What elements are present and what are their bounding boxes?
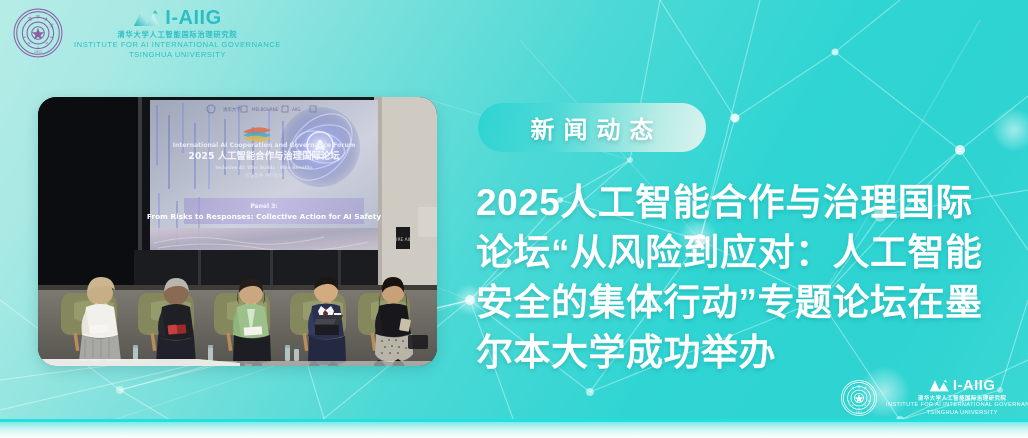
footer-logo-english-line-2: TSINGHUA UNIVERSITY (926, 410, 997, 418)
page-title: 2025人工智能合作与治理国际论坛“从风险到应对：人工智能安全的集体行动”专题论… (476, 178, 1002, 378)
screen-panel-title: From Risks to Responses: Collective Acti… (147, 212, 381, 221)
svg-text:华: 华 (857, 383, 860, 388)
bottom-fade (0, 422, 1028, 438)
logo-wordmark: I-AIIG (165, 8, 221, 28)
footer-logo-wordmark: I-AIIG (953, 378, 995, 393)
logo-english-line-2: TSINGHUA UNIVERSITY (129, 50, 226, 60)
svg-text:清华大学: 清华大学 (223, 106, 241, 113)
svg-text:学: 学 (49, 22, 53, 28)
svg-text:清: 清 (851, 385, 854, 390)
logo-chinese-name: 清华大学人工智能国际治理研究院 (118, 30, 238, 40)
svg-text:清: 清 (28, 16, 32, 22)
logo-english-line-1: INSTITUTE FOR AI INTERNATIONAL GOVERNANC… (74, 40, 281, 50)
footer-logo-chinese-name: 清华大学人工智能国际治理研究院 (918, 394, 1006, 402)
svg-text:1911: 1911 (856, 411, 862, 414)
svg-text:AIIG: AIIG (292, 107, 301, 112)
header-logo-lockup: 清 华 大 学 1911 (12, 6, 281, 61)
news-category-badge[interactable]: 新闻动态 (478, 103, 706, 152)
svg-text:MELBOURNE: MELBOURNE (252, 107, 279, 112)
svg-text:华: 华 (36, 14, 40, 20)
screen-forum-title-cn: 2025 人工智能合作与治理国际论坛 (188, 150, 340, 162)
news-badge-label: 新闻动态 (522, 110, 663, 145)
screen-forum-title-en: International AI Cooperation and Governa… (173, 142, 356, 149)
screen-forum-subtitle-cn: 包容普惠 共同富裕 (245, 172, 284, 179)
i-aiig-mountain-mark-icon (929, 378, 951, 393)
screen-panel-label: Panel 3: (250, 203, 277, 210)
footer-logo-english-line-1: INSTITUTE FOR AI INTERNATIONAL GOVERNANC… (886, 402, 1028, 410)
screen-forum-subtitle-en: Inclusive AI: Who Builds · Who Benefits (215, 165, 313, 171)
svg-text:大: 大 (864, 385, 867, 390)
headline-text: 2025人工智能合作与治理国际论坛“从风险到应对：人工智能安全的集体行动”专题论… (476, 182, 983, 373)
news-banner: 清 华 大 学 1911 (0, 0, 1028, 438)
tsinghua-seal-icon: 清 华 大 学 1911 (12, 7, 64, 59)
svg-text:1911: 1911 (34, 50, 42, 54)
panel-discussion-photo: FIRE AID (38, 97, 437, 366)
tsinghua-seal-icon: 清 华 大 1911 (840, 379, 878, 417)
svg-text:FIRE AID: FIRE AID (394, 237, 413, 243)
svg-text:大: 大 (44, 16, 48, 22)
i-aiig-mountain-mark-icon (133, 8, 163, 28)
footer-logo-lockup: 清 华 大 1911 I-AIIG 清华大学人工智能国际治理研究院 (840, 378, 1028, 418)
